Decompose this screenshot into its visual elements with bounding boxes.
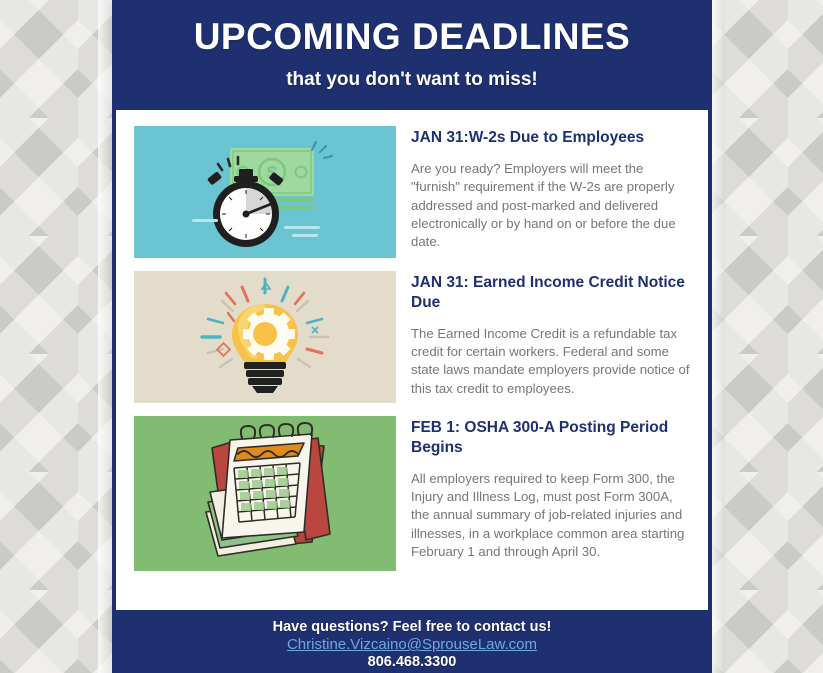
contact-email-link[interactable]: Christine.Vizcaino@SprouseLaw.com (112, 636, 712, 653)
page-title: UPCOMING DEADLINES (122, 18, 702, 57)
deadline-copy: FEB 1: OSHA 300-A Posting Period Begins … (411, 416, 694, 571)
deadline-body: The Earned Income Credit is a refundable… (411, 325, 694, 398)
deadline-item: FEB 1: OSHA 300-A Posting Period Begins … (134, 416, 694, 571)
deadline-flyer: UPCOMING DEADLINES that you don't want t… (112, 0, 712, 673)
background-highlight-right (711, 0, 725, 673)
page-subtitle: that you don't want to miss! (122, 69, 702, 91)
background-highlight-left (98, 0, 112, 673)
deadline-heading: JAN 31: Earned Income Credit Notice Due (411, 273, 694, 313)
deadline-body: Are you ready? Employers will meet the "… (411, 160, 694, 252)
flyer-footer: Have questions? Feel free to contact us!… (112, 610, 712, 673)
lightbulb-gear-illustration (134, 271, 396, 403)
deadline-item: $ (134, 126, 694, 258)
background-pattern-left (0, 0, 112, 673)
contact-prompt: Have questions? Feel free to contact us! (112, 619, 712, 635)
deadline-body: All employers required to keep Form 300,… (411, 470, 694, 562)
flyer-header: UPCOMING DEADLINES that you don't want t… (112, 0, 712, 103)
calendar-illustration (134, 416, 396, 571)
deadline-copy: JAN 31:W-2s Due to Employees Are you rea… (411, 126, 694, 258)
contact-phone: 806.468.3300 (112, 654, 712, 670)
deadline-heading: JAN 31:W-2s Due to Employees (411, 128, 694, 148)
stopwatch-money-illustration: $ (134, 126, 396, 258)
background-pattern-right (710, 0, 823, 673)
deadline-heading: FEB 1: OSHA 300-A Posting Period Begins (411, 418, 694, 458)
deadline-item: JAN 31: Earned Income Credit Notice Due … (134, 271, 694, 403)
deadlines-card: $ (116, 110, 708, 610)
deadline-copy: JAN 31: Earned Income Credit Notice Due … (411, 271, 694, 403)
